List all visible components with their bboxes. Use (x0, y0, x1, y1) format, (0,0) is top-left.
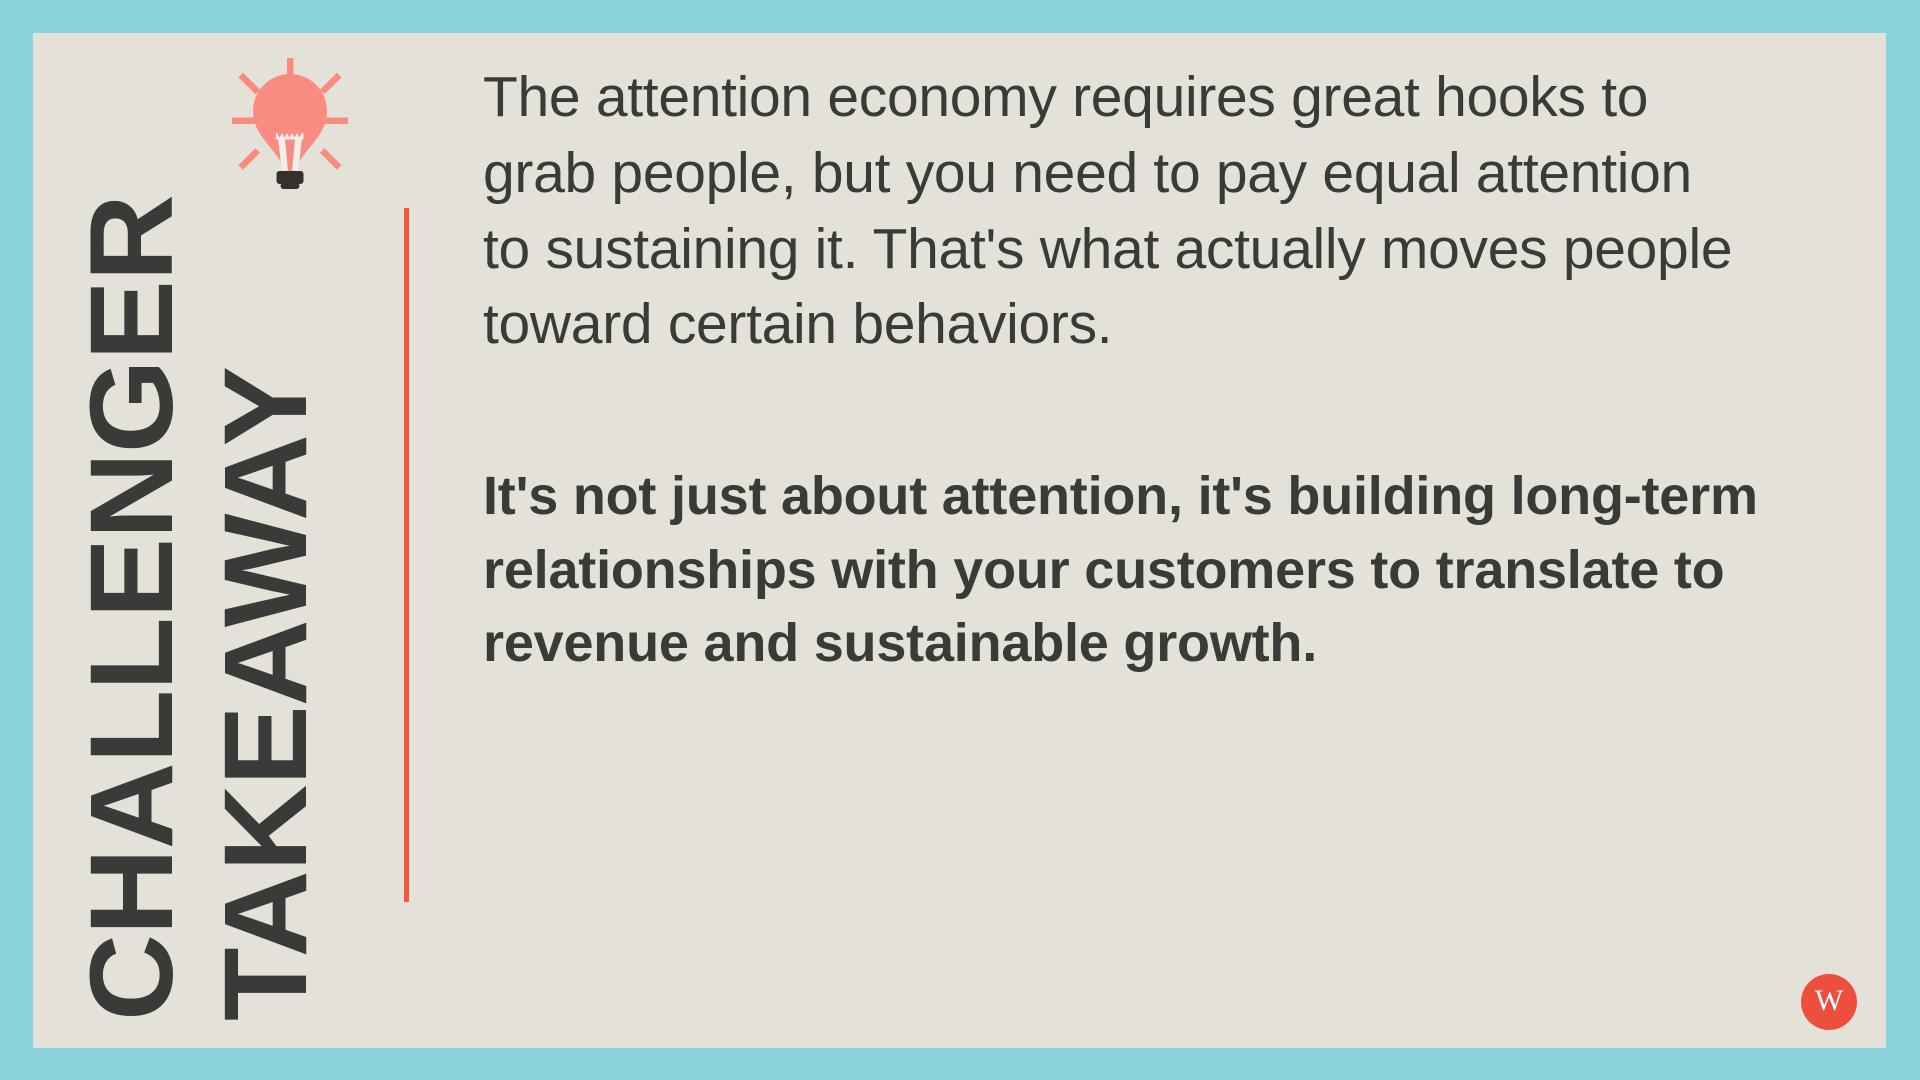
lightbulb-icon (232, 58, 348, 190)
quote-card-frame: CHALLENGER TAKEAWAY (0, 0, 1920, 1080)
quote-paragraph-punchline: It's not just about attention, it's buil… (483, 460, 1803, 680)
eyebrow-word-takeaway: TAKEAWAY (210, 367, 322, 1021)
brand-logo-letter: W (1815, 986, 1843, 1016)
eyebrow-word-challenger: CHALLENGER (76, 195, 188, 1021)
quote-paragraph-lede: The attention economy requires great hoo… (483, 60, 1753, 363)
quote-copy-group: The attention economy requires great hoo… (483, 60, 1803, 681)
brand-logo-badge: W (1801, 974, 1857, 1030)
accent-divider (404, 208, 409, 902)
